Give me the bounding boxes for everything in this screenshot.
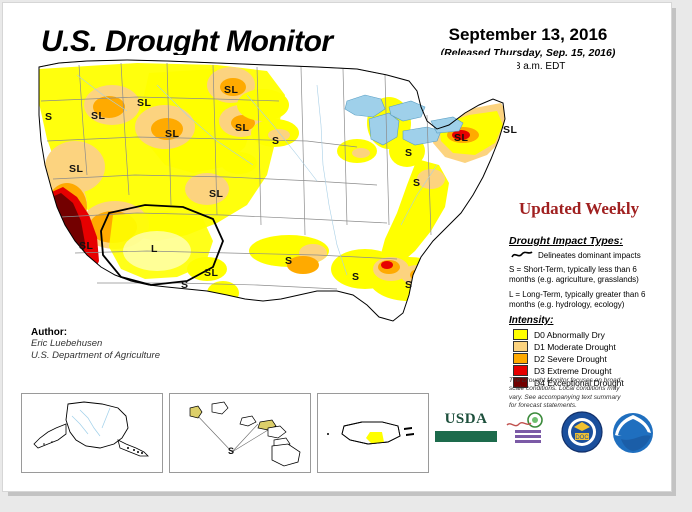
page-title: U.S. Drought Monitor — [41, 25, 333, 59]
intensity-heading: Intensity: — [509, 315, 659, 326]
author-block: Author: Eric Luebehusen U.S. Department … — [31, 327, 160, 363]
usda-wordmark: USDA — [435, 411, 497, 428]
delineation-text: Delineates dominant impacts — [538, 251, 641, 260]
legend: Drought Impact Types: Delineates dominan… — [509, 235, 659, 389]
author-name: Eric Luebehusen — [31, 338, 160, 350]
legend-item-d1[interactable]: D1 Moderate Drought — [513, 341, 659, 352]
legend-label-d3: D3 Extreme Drought — [534, 366, 611, 376]
commerce-seal-logo: DOC — [561, 411, 603, 458]
author-org: U.S. Department of Agriculture — [31, 350, 160, 362]
inset-map-hawaii[interactable]: S — [169, 393, 311, 473]
drought-monitor-card: U.S. Drought Monitor September 13, 2016 … — [2, 2, 672, 492]
inset-map-alaska[interactable] — [21, 393, 163, 473]
svg-text:DOC: DOC — [575, 435, 589, 441]
map-date: September 13, 2016 — [403, 25, 653, 45]
ndmc-logo — [505, 411, 551, 456]
noaa-icon — [611, 411, 655, 455]
noaa-logo — [611, 411, 655, 460]
logo-strip: USDA DOC — [435, 407, 655, 467]
swatch-d2 — [513, 353, 528, 364]
squiggle-icon — [511, 250, 533, 260]
puerto-rico-svg — [318, 394, 428, 472]
long-term-definition: L = Long-Term, typically greater than 6 … — [509, 290, 659, 310]
swatch-d3 — [513, 365, 528, 376]
alaska-svg — [22, 394, 162, 472]
impact-types-heading: Drought Impact Types: — [509, 235, 659, 247]
short-term-definition: S = Short-Term, typically less than 6 mo… — [509, 265, 659, 285]
commerce-seal-icon: DOC — [561, 411, 603, 453]
swatch-d0 — [513, 329, 528, 340]
legend-label-d1: D1 Moderate Drought — [534, 342, 616, 352]
legend-item-d2[interactable]: D2 Severe Drought — [513, 353, 659, 364]
delineation-row: Delineates dominant impacts — [511, 250, 659, 260]
hawaii-impact-label: S — [228, 446, 234, 456]
legend-label-d0: D0 Abnormally Dry — [534, 330, 605, 340]
legend-item-d3[interactable]: D3 Extreme Drought — [513, 365, 659, 376]
legend-item-d0[interactable]: D0 Abnormally Dry — [513, 329, 659, 340]
swatch-d1 — [513, 341, 528, 352]
disclaimer-text: The Drought Monitor focuses on broad-sca… — [509, 377, 629, 411]
updated-weekly-note: Updated Weekly — [519, 199, 639, 219]
usda-field-graphic — [435, 429, 497, 442]
hawaii-svg — [170, 394, 310, 472]
legend-label-d2: D2 Severe Drought — [534, 354, 607, 364]
inset-map-puerto-rico[interactable] — [317, 393, 429, 473]
usda-logo: USDA — [435, 411, 497, 442]
author-heading: Author: — [31, 327, 160, 338]
ndmc-icon — [505, 411, 551, 451]
